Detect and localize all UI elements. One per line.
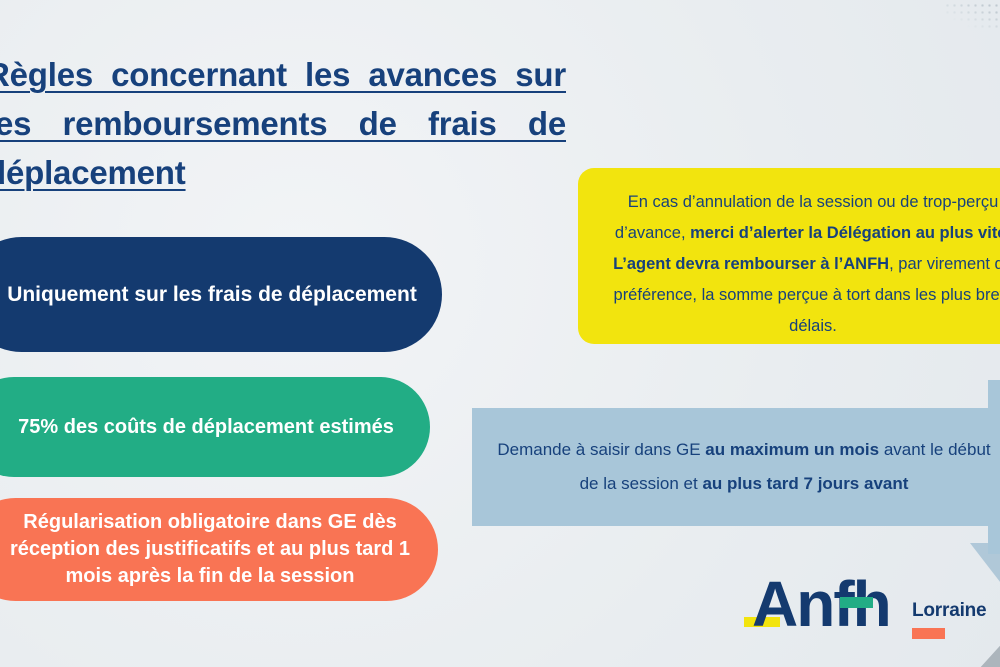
pill-navy: Uniquement sur les frais de déplacement	[0, 237, 442, 352]
arrow-head-bottom	[988, 526, 1000, 554]
pill-orange: Régularisation obligatoire dans GE dès r…	[0, 498, 438, 601]
pill-green: 75% des coûts de déplacement estimés	[0, 377, 430, 477]
logo-region-label: Lorraine	[912, 600, 986, 622]
page-title-line-1: Règles concernant les avances sur	[0, 50, 566, 99]
page-title-line-2: les remboursements de frais de	[0, 99, 566, 148]
dot-grid-decoration	[944, 2, 1000, 28]
logo-orange-bar-icon	[912, 628, 945, 639]
arrow-text-bold-1: au maximum un mois	[705, 440, 879, 459]
arrow-callout: Demande à saisir dans GE au maximum un m…	[472, 408, 1000, 526]
arrow-text-bold-2: au plus tard 7 jours avant	[702, 474, 908, 493]
slide-canvas: Règles concernant les avances sur les re…	[0, 0, 1000, 667]
page-title: Règles concernant les avances sur les re…	[0, 50, 566, 197]
arrow-head-top	[988, 380, 1000, 408]
pill-orange-label: Régularisation obligatoire dans GE dès r…	[4, 509, 416, 590]
arrow-text-part-1: Demande à saisir dans GE	[497, 440, 705, 459]
callout-yellow: En cas d’annulation de la session ou de …	[578, 168, 1000, 344]
pill-green-label: 75% des coûts de déplacement estimés	[18, 414, 394, 441]
page-title-line-3: déplacement	[0, 148, 566, 197]
arrow-callout-text: Demande à saisir dans GE au maximum un m…	[472, 408, 1000, 526]
anfh-logo: Anfh Lorraine	[744, 578, 994, 650]
logo-green-bar-icon	[840, 597, 873, 608]
pill-navy-label: Uniquement sur les frais de déplacement	[7, 280, 417, 309]
